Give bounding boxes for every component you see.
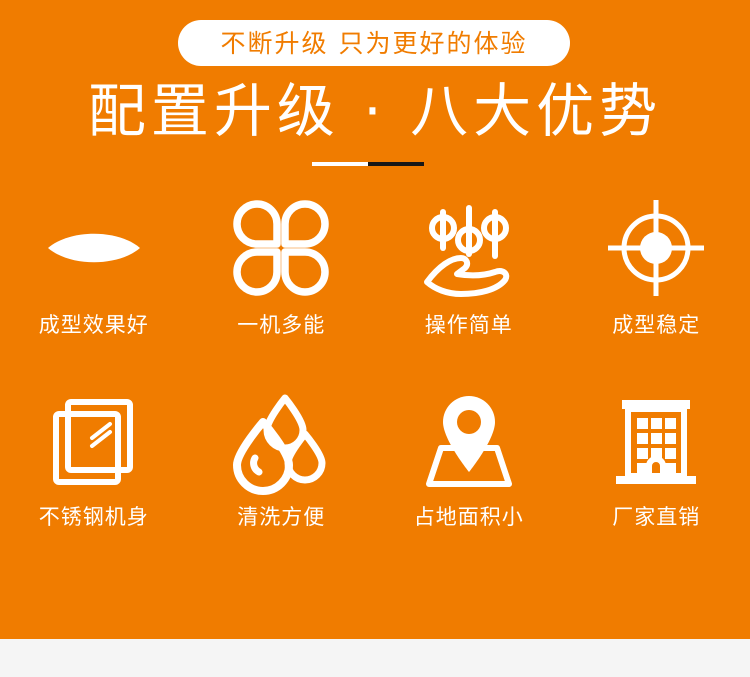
feature-label-4: 成型稳定 <box>612 314 700 337</box>
feature-item-5: 不锈钢机身 <box>0 388 188 548</box>
feature-item-2: 一机多能 <box>188 196 376 356</box>
hand-sliders-icon <box>417 196 521 300</box>
promo-banner-page: 不断升级 只为更好的体验 配置升级 · 八大优势 成型效果好 <box>0 0 750 677</box>
divider-dark-segment <box>368 162 424 166</box>
feature-item-6: 清洗方便 <box>188 388 376 548</box>
four-petal-grid-icon <box>229 196 333 300</box>
water-drops-icon <box>229 388 333 492</box>
subtitle-pill-text: 不断升级 只为更好的体验 <box>221 31 528 56</box>
subtitle-pill: 不断升级 只为更好的体验 <box>178 20 570 66</box>
feature-label-6: 清洗方便 <box>237 506 325 529</box>
feature-item-7: 占地面积小 <box>375 388 563 548</box>
feature-item-1: 成型效果好 <box>0 196 188 356</box>
feature-item-8: 厂家直销 <box>563 388 750 548</box>
feature-label-7: 占地面积小 <box>414 506 524 529</box>
feature-grid: 成型效果好 <box>0 196 750 548</box>
page-title: 配置升级 · 八大优势 <box>0 76 750 146</box>
feature-label-8: 厂家直销 <box>612 506 700 529</box>
title-divider <box>312 162 424 166</box>
feature-label-1: 成型效果好 <box>39 314 149 337</box>
map-pin-icon <box>417 388 521 492</box>
feature-label-2: 一机多能 <box>237 314 325 337</box>
divider-light-segment <box>312 162 368 166</box>
orange-background-panel: 不断升级 只为更好的体验 配置升级 · 八大优势 成型效果好 <box>0 0 750 639</box>
feature-item-3: 操作简单 <box>375 196 563 356</box>
factory-building-icon <box>604 388 708 492</box>
feature-item-4: 成型稳定 <box>563 196 750 356</box>
lens-shape-icon <box>42 196 146 300</box>
stacked-plates-icon <box>42 388 146 492</box>
crosshair-target-icon <box>604 196 708 300</box>
bottom-strip <box>0 639 750 677</box>
feature-label-5: 不锈钢机身 <box>39 506 149 529</box>
feature-label-3: 操作简单 <box>425 314 513 337</box>
